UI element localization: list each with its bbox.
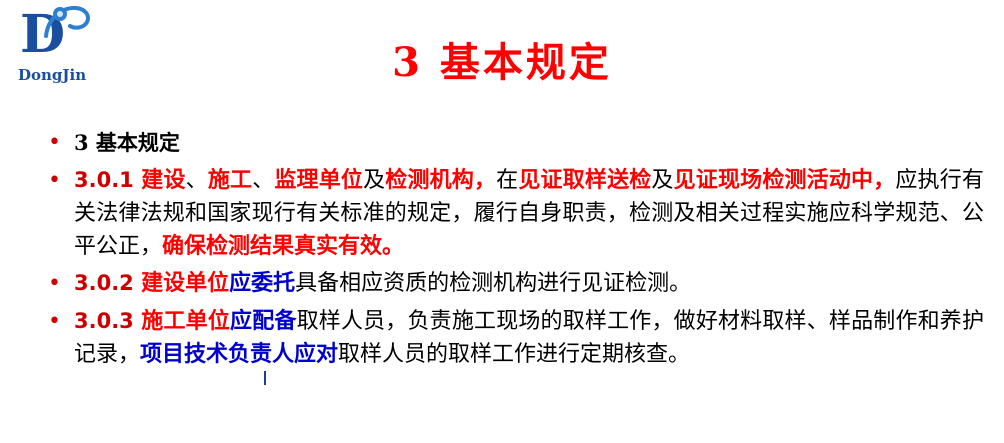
list-item: • 3.0.2 建设单位应委托具备相应资质的检测机构进行见证检测。 <box>44 267 984 301</box>
list-item-text: 3.0.1 建设、施工、监理单位及检测机构，在见证取样送检及见证现场检测活动中，… <box>74 164 984 263</box>
text-segment: 施工 <box>208 167 252 193</box>
clause-number: 3.0.1 <box>74 168 141 192</box>
bullet-marker: • <box>44 305 74 339</box>
text-segment: 在 <box>496 168 518 193</box>
list-item-text: 3.0.2 建设单位应委托具备相应资质的检测机构进行见证检测。 <box>74 267 984 300</box>
text-segment: 、 <box>186 168 208 193</box>
page-title: 3 基本规定 <box>0 30 1004 88</box>
text-segment: 施工单位 <box>141 308 230 334</box>
slide-body: • 3 基本规定 • 3.0.1 建设、施工、监理单位及检测机构，在见证取样送检… <box>44 126 984 375</box>
list-item: • 3 基本规定 <box>44 126 984 160</box>
text-segment: 、 <box>252 168 274 193</box>
clause-number: 3.0.3 <box>74 309 141 333</box>
text-segment: 及 <box>363 168 385 193</box>
list-item: • 3.0.1 建设、施工、监理单位及检测机构，在见证取样送检及见证现场检测活动… <box>44 164 984 263</box>
text-segment: 具备相应资质的检测机构进行见证检测。 <box>295 271 691 296</box>
text-segment: 应配备 <box>230 308 297 334</box>
text-segment: 确保检测结果真实有效。 <box>162 233 404 259</box>
text-segment: 见证现场检测活动中， <box>674 167 896 193</box>
text-segment: 建设 <box>141 167 185 193</box>
text-segment: 3 基本规定 <box>74 130 180 155</box>
text-caret <box>264 371 266 385</box>
text-segment: 及 <box>651 168 673 193</box>
text-segment: 取样人员的取样工作进行定期核查。 <box>338 342 690 367</box>
text-segment: 应委托 <box>229 270 295 296</box>
text-segment: 监理单位 <box>274 167 363 193</box>
text-segment: 检测机构， <box>385 167 496 193</box>
text-segment: 见证取样送检 <box>518 167 651 193</box>
bullet-marker: • <box>44 267 74 301</box>
clause-number: 3.0.2 <box>74 271 141 295</box>
list-item-text: 3 基本规定 <box>74 126 984 159</box>
bullet-marker: • <box>44 164 74 198</box>
text-segment: 项目技术负责人应对 <box>140 341 338 367</box>
list-item-text: 3.0.3 施工单位应配备取样人员，负责施工现场的取样工作，做好材料取样、样品制… <box>74 305 984 371</box>
bullet-marker: • <box>44 126 74 160</box>
text-segment: 建设单位 <box>141 270 229 296</box>
list-item: • 3.0.3 施工单位应配备取样人员，负责施工现场的取样工作，做好材料取样、样… <box>44 305 984 371</box>
